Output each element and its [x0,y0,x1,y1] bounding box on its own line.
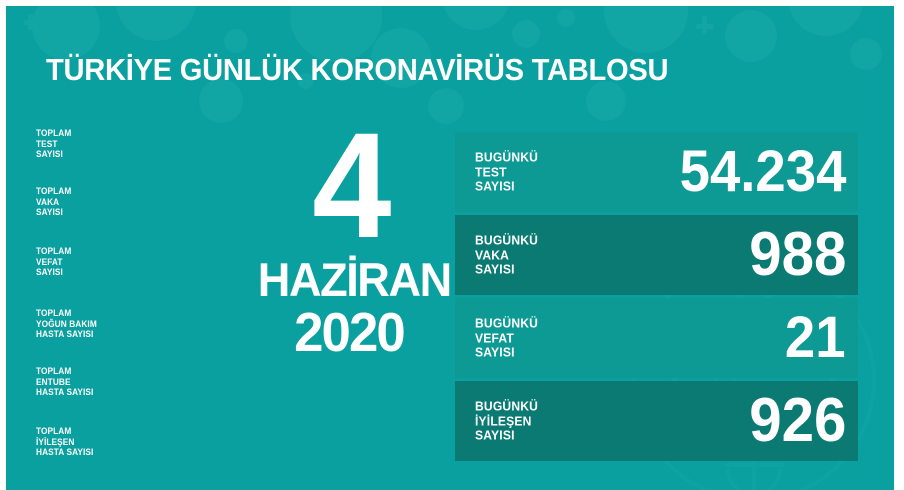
date-year: 2020 [258,304,440,360]
total-test-label: TOPLAM TEST SAYISI [36,128,229,160]
daily-test-box: BUGÜNKÜ TEST SAYISI 54.234 [455,132,858,212]
daily-recovered-label: BUGÜNKÜ İYİLEŞEN SAYISI [475,399,538,443]
daily-stats-column: BUGÜNKÜ TEST SAYISI 54.234 BUGÜNKÜ VAKA … [455,132,858,464]
total-intubated-label: TOPLAM ENTUBE HASTA SAYISI [36,366,229,398]
total-death-label: TOPLAM VEFAT SAYISI [36,246,229,278]
daily-recovered-value: 926 [749,390,846,452]
date-block: 4 HAZİRAN 2020 [254,116,444,360]
total-recovered-label: TOPLAM İYİLEŞEN HASTA SAYISI [36,426,229,458]
total-icu-label: TOPLAM YOĞUN BAKIM HASTA SAYISI [36,308,229,340]
total-case-label: TOPLAM VAKA SAYISI [36,186,229,218]
daily-recovered-box: BUGÜNKÜ İYİLEŞEN SAYISI 926 [455,381,858,461]
daily-test-value: 54.234 [679,143,846,201]
daily-case-box: BUGÜNKÜ VAKA SAYISI 988 [455,215,858,295]
daily-death-label: BUGÜNKÜ VEFAT SAYISI [475,316,538,360]
daily-death-value: 21 [785,309,846,367]
daily-death-box: BUGÜNKÜ VEFAT SAYISI 21 [455,298,858,378]
daily-case-value: 988 [749,224,846,286]
infographic-poster: TÜRKİYE GÜNLÜK KORONAVİRÜS TABLOSU TOPLA… [6,6,894,490]
daily-case-label: BUGÜNKÜ VAKA SAYISI [475,233,538,277]
date-day: 4 [259,116,440,254]
date-month: HAZİRAN [258,256,440,304]
daily-test-label: BUGÜNKÜ TEST SAYISI [475,150,538,194]
page-title: TÜRKİYE GÜNLÜK KORONAVİRÜS TABLOSU [46,54,668,85]
